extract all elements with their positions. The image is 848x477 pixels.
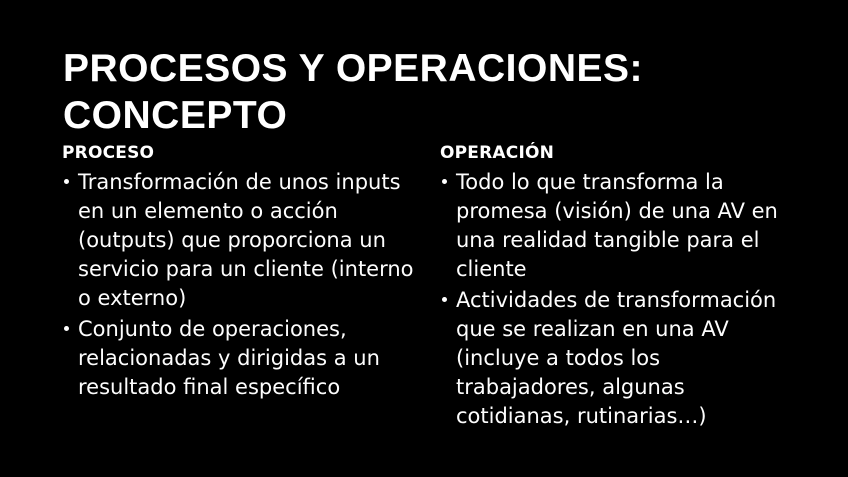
list-item: Actividades de transformación que se rea… bbox=[440, 286, 780, 431]
page-title: PROCESOS Y OPERACIONES: CONCEPTO bbox=[63, 45, 803, 139]
column-heading-proceso: PROCESO bbox=[62, 143, 414, 164]
list-item-text: Conjunto de operaciones, relacionadas y … bbox=[78, 315, 414, 402]
presentation-slide: PROCESOS Y OPERACIONES: CONCEPTO PROCESO… bbox=[0, 0, 848, 477]
bullet-dot-icon bbox=[64, 326, 69, 331]
bullet-dot-icon bbox=[442, 179, 447, 184]
list-item-text: Actividades de transformación que se rea… bbox=[456, 286, 780, 431]
list-item: Todo lo que transforma la promesa (visió… bbox=[440, 168, 780, 284]
list-item: Transformación de unos inputs en un elem… bbox=[62, 168, 414, 313]
bullet-list-operacion: Todo lo que transforma la promesa (visió… bbox=[440, 168, 780, 431]
list-item-text: Transformación de unos inputs en un elem… bbox=[78, 168, 414, 313]
column-heading-operacion: OPERACIÓN bbox=[440, 143, 780, 164]
list-item: Conjunto de operaciones, relacionadas y … bbox=[62, 315, 414, 402]
list-item-text: Todo lo que transforma la promesa (visió… bbox=[456, 168, 780, 284]
bullet-list-proceso: Transformación de unos inputs en un elem… bbox=[62, 168, 414, 402]
slide-body: PROCESO Transformación de unos inputs en… bbox=[0, 143, 848, 477]
bullet-dot-icon bbox=[442, 297, 447, 302]
column-proceso: PROCESO Transformación de unos inputs en… bbox=[62, 143, 414, 404]
column-operacion: OPERACIÓN Todo lo que transforma la prom… bbox=[440, 143, 780, 433]
bullet-dot-icon bbox=[64, 179, 69, 184]
